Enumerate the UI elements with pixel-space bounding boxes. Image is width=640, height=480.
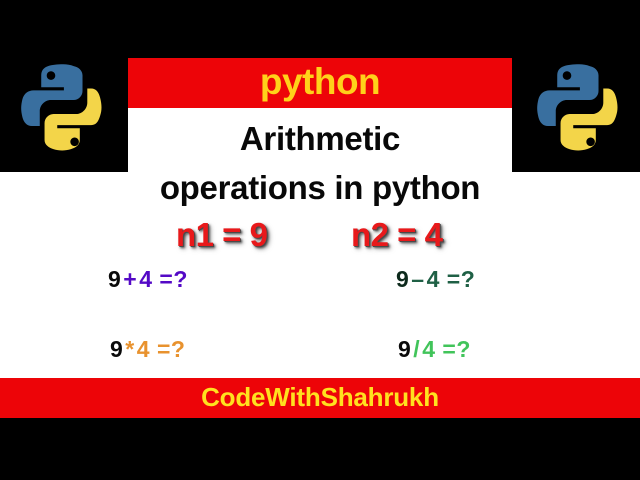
subtraction-result: ?	[461, 266, 476, 292]
multiplication-rhs: 4	[137, 336, 150, 362]
multiplication-result: ?	[171, 336, 186, 362]
division-lhs: 9	[398, 336, 411, 362]
thumbnail-canvas: python Arithmetic operations in python n…	[0, 0, 640, 480]
addition-lhs: 9	[108, 266, 121, 292]
subtraction-rhs: 4	[427, 266, 440, 292]
variables-row: n1 = 9 n2 = 4	[0, 216, 640, 260]
title-line-2: operations in python	[0, 168, 640, 208]
addition-result: ?	[173, 266, 188, 292]
multiplication-lhs: 9	[110, 336, 123, 362]
expression-subtraction: 9–4 =?	[396, 266, 475, 293]
python-logo-left-icon	[12, 58, 116, 162]
multiplication-equals: =	[157, 336, 171, 362]
addition-rhs: 4	[139, 266, 152, 292]
bottom-black-band	[0, 418, 640, 480]
expression-addition: 9+4 =?	[108, 266, 188, 293]
subtraction-lhs: 9	[396, 266, 409, 292]
variable-n1: n1 = 9	[176, 216, 267, 254]
addition-equals: =	[159, 266, 173, 292]
variable-n2: n2 = 4	[351, 216, 442, 254]
brand-title: python	[128, 58, 512, 108]
title-line-1: Arithmetic	[128, 108, 512, 172]
addition-operator: +	[121, 266, 139, 292]
multiplication-operator: *	[123, 336, 136, 362]
subtraction-operator: –	[409, 266, 426, 292]
expression-division: 9/4 =?	[398, 336, 471, 363]
channel-name: CodeWithShahrukh	[0, 378, 640, 418]
python-logo-right-icon	[528, 58, 632, 162]
division-result: ?	[456, 336, 471, 362]
division-rhs: 4	[422, 336, 435, 362]
title-card: python Arithmetic	[128, 58, 512, 172]
subtraction-equals: =	[447, 266, 461, 292]
division-operator: /	[411, 336, 422, 362]
operations-grid: 9+4 =? 9–4 =? 9*4 =? 9/4 =?	[0, 262, 640, 378]
expression-multiplication: 9*4 =?	[110, 336, 185, 363]
division-equals: =	[442, 336, 456, 362]
